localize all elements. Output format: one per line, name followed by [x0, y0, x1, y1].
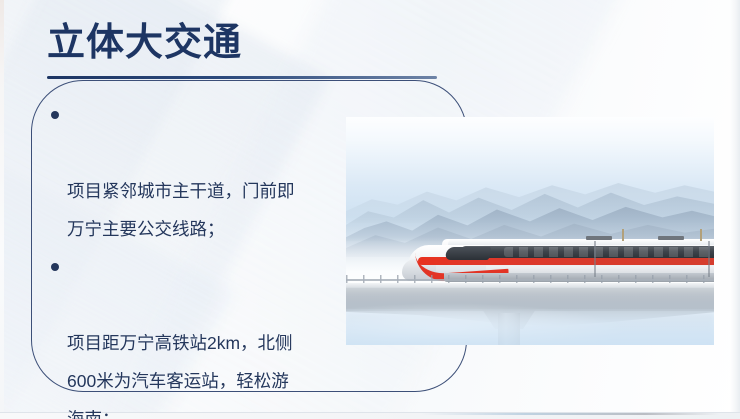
train-car-gap — [594, 241, 596, 277]
list-item: 项目距万宁高铁站2km，北侧 600米为汽车客运站，轻松游 海南； — [50, 248, 350, 419]
guardrail-bar — [346, 279, 714, 281]
slide-right-edge — [730, 0, 740, 419]
train-cab-window — [445, 247, 492, 260]
slide-bottom-accent — [420, 413, 720, 415]
page-title: 立体大交通 — [47, 22, 242, 65]
list-item-text: 项目紧邻城市主干道，门前即 万宁主要公交线路； — [67, 181, 295, 239]
list-item: 项目紧邻城市主干道，门前即 万宁主要公交线路； — [50, 96, 350, 248]
train-photo — [346, 117, 714, 345]
list-item-text: 项目距万宁高铁站2km，北侧 600米为汽车客运站，轻松游 海南； — [67, 333, 293, 419]
train-roof-unit — [658, 236, 684, 240]
slide: 立体大交通 项目紧邻城市主干道，门前即 万宁主要公交线路； 项目距万宁高铁站2k… — [0, 0, 740, 419]
bullet-dot-icon — [51, 111, 59, 119]
train-car-gap — [708, 241, 710, 277]
train-pantograph — [700, 229, 702, 241]
train-roof-unit — [586, 236, 612, 240]
slide-left-edge — [0, 0, 4, 419]
photo-bottom-glow — [346, 283, 714, 345]
bullet-list: 项目紧邻城市主干道，门前即 万宁主要公交线路； 项目距万宁高铁站2km，北侧 6… — [50, 96, 350, 419]
train-pantograph — [622, 229, 624, 241]
title-underline — [47, 76, 437, 79]
train-window-band — [460, 246, 714, 258]
bullet-dot-icon — [51, 263, 59, 271]
